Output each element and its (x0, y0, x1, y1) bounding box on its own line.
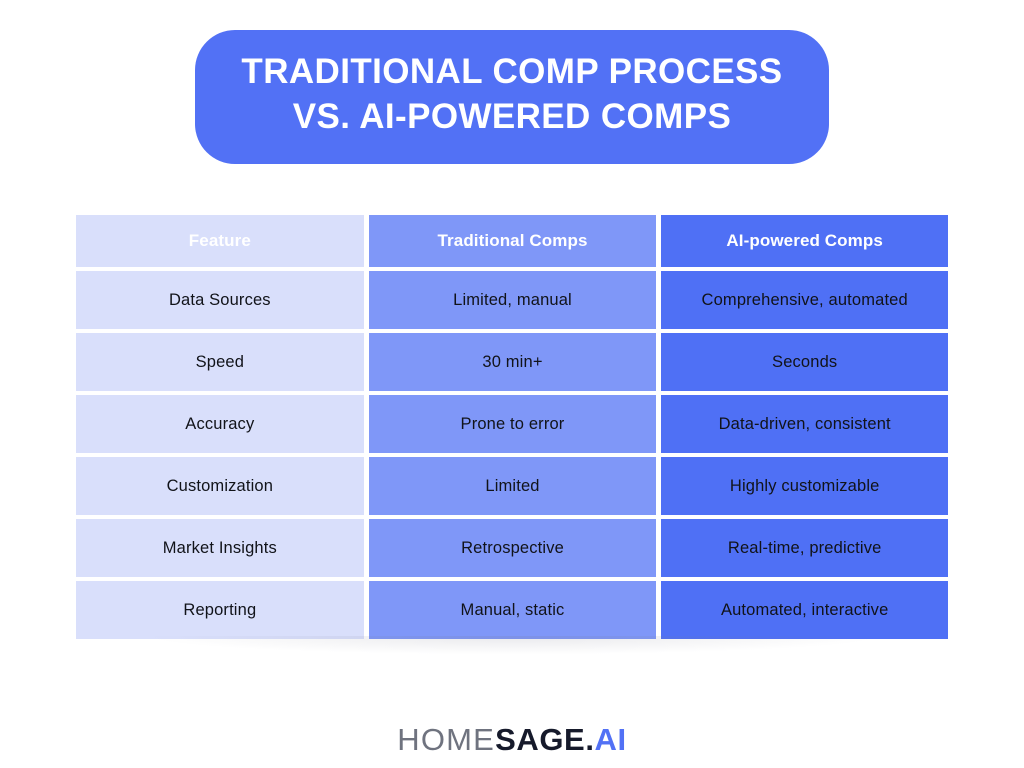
cell-ai: Real-time, predictive (661, 519, 948, 577)
cell-feature: Data Sources (76, 271, 364, 329)
cell-feature: Customization (76, 457, 364, 515)
cell-text: Data-driven, consistent (719, 415, 891, 434)
table-row: Speed 30 min+ Seconds (76, 333, 948, 391)
table-row: Market Insights Retrospective Real-time,… (76, 519, 948, 577)
cell-text: Automated, interactive (721, 601, 888, 620)
title-line-1: TRADITIONAL COMP PROCESS (241, 50, 782, 95)
logo-text-ai: AI (595, 722, 627, 758)
cell-text: Customization (167, 477, 274, 496)
cell-ai: Data-driven, consistent (661, 395, 948, 453)
table-row: Customization Limited Highly customizabl… (76, 457, 948, 515)
cell-feature: Accuracy (76, 395, 364, 453)
cell-text: Comprehensive, automated (702, 291, 908, 310)
cell-text: Data Sources (169, 291, 271, 310)
cell-feature: Market Insights (76, 519, 364, 577)
cell-traditional: Prone to error (369, 395, 657, 453)
brand-logo: HOMESAGE.AI (0, 722, 1024, 758)
cell-text: Limited (485, 477, 539, 496)
header-label-traditional: Traditional Comps (438, 231, 588, 251)
logo-text-home: HOME (397, 722, 495, 758)
cell-ai: Seconds (661, 333, 948, 391)
cell-text: Seconds (772, 353, 837, 372)
cell-ai: Automated, interactive (661, 581, 948, 639)
table-row: Reporting Manual, static Automated, inte… (76, 581, 948, 639)
cell-text: Retrospective (461, 539, 564, 558)
cell-text: 30 min+ (482, 353, 542, 372)
comparison-table: Feature Traditional Comps AI-powered Com… (76, 215, 948, 643)
header-cell-ai: AI-powered Comps (661, 215, 948, 267)
header-label-feature: Feature (189, 231, 251, 251)
table-row: Accuracy Prone to error Data-driven, con… (76, 395, 948, 453)
cell-text: Manual, static (461, 601, 565, 620)
cell-text: Market Insights (163, 539, 277, 558)
cell-text: Reporting (183, 601, 256, 620)
cell-text: Speed (196, 353, 244, 372)
header-cell-feature: Feature (76, 215, 364, 267)
cell-text: Accuracy (185, 415, 254, 434)
cell-traditional: Limited, manual (369, 271, 657, 329)
cell-traditional: 30 min+ (369, 333, 657, 391)
cell-ai: Highly customizable (661, 457, 948, 515)
cell-traditional: Retrospective (369, 519, 657, 577)
title-line-2: VS. AI-POWERED COMPS (241, 95, 782, 140)
cell-text: Highly customizable (730, 477, 880, 496)
cell-traditional: Manual, static (369, 581, 657, 639)
cell-text: Prone to error (461, 415, 565, 434)
logo-text-sage: SAGE. (495, 722, 594, 758)
header-cell-traditional: Traditional Comps (369, 215, 657, 267)
cell-text: Real-time, predictive (728, 539, 882, 558)
cell-feature: Speed (76, 333, 364, 391)
cell-traditional: Limited (369, 457, 657, 515)
table-row: Data Sources Limited, manual Comprehensi… (76, 271, 948, 329)
cell-feature: Reporting (76, 581, 364, 639)
title-banner: TRADITIONAL COMP PROCESS VS. AI-POWERED … (195, 30, 828, 164)
table-header-row: Feature Traditional Comps AI-powered Com… (76, 215, 948, 267)
cell-ai: Comprehensive, automated (661, 271, 948, 329)
infographic-page: { "banner": { "line1": "TRADITIONAL COMP… (0, 0, 1024, 768)
header-label-ai: AI-powered Comps (726, 231, 883, 251)
title-banner-wrapper: TRADITIONAL COMP PROCESS VS. AI-POWERED … (0, 30, 1024, 164)
cell-text: Limited, manual (453, 291, 572, 310)
